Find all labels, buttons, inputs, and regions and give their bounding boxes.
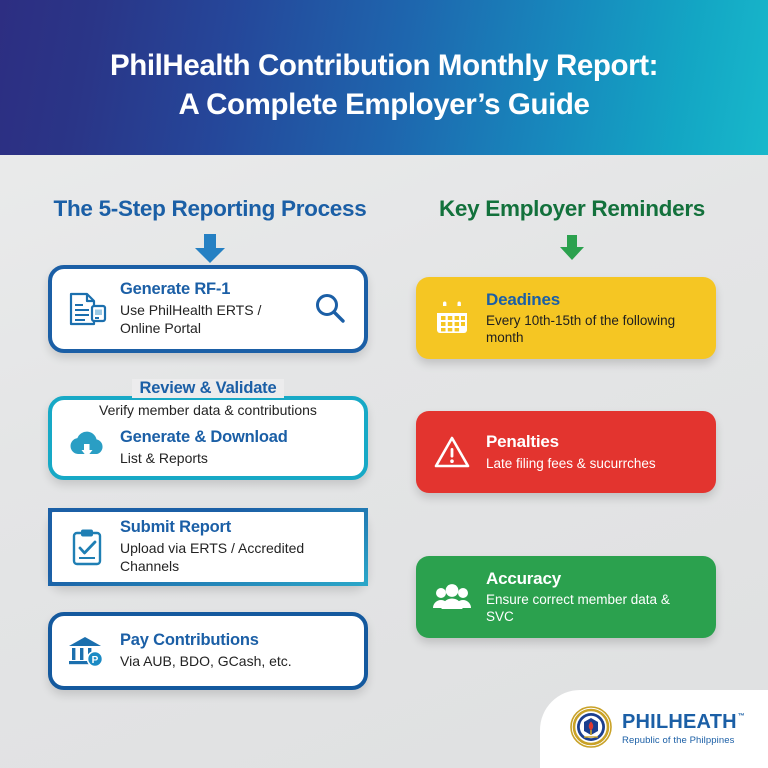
warning-triangle-icon (432, 435, 472, 469)
infographic-page: PhilHealth Contribution Monthly Report: … (0, 0, 768, 768)
step-card-text: Pay Contributions Via AUB, BDO, GCash, e… (120, 631, 350, 670)
arrow-down-icon (193, 234, 227, 264)
step-card-title: Generate RF-1 (120, 280, 298, 299)
right-arrow-wrap (412, 235, 732, 261)
step-card-submit-report[interactable]: Submit Report Upload via ERTS / Accredit… (48, 508, 368, 586)
calendar-icon (432, 301, 472, 335)
step-card-text: Generate & Download List & Reports (120, 428, 350, 467)
reminder-card-text: Penalties Late filing fees & sucurrches (486, 432, 700, 472)
step-card-pay-contributions[interactable]: P Pay Contributions Via AUB, BDO, GCash,… (48, 612, 368, 690)
brand-name: PHILHEATH (622, 712, 737, 732)
trademark-symbol: ™ (738, 713, 745, 720)
right-column-heading: Key Employer Reminders (412, 196, 732, 222)
arrow-down-icon (558, 235, 586, 261)
page-title-line2: A Complete Employer’s Guide (178, 86, 589, 125)
step-card-subtitle: Via AUB, BDO, GCash, etc. (120, 653, 350, 671)
svg-text:P: P (92, 655, 99, 666)
reminder-card-subtitle: Ensure correct member data & SVC (486, 591, 700, 626)
philhealth-wordmark: PHILHEATH ™ Republic of the Philppines (622, 712, 745, 746)
reminder-card-title: Accuracy (486, 569, 700, 589)
step-card-review-validate[interactable]: Generate & Download List & Reports (48, 396, 368, 480)
step-card-title: Submit Report (120, 518, 350, 537)
step-card-subtitle-2: List & Reports (120, 450, 350, 468)
step-card-title: Pay Contributions (120, 631, 350, 650)
reminder-card-deadlines[interactable]: Deadines Every 10th-15th of the followin… (416, 277, 716, 359)
step-card-text: Submit Report Upload via ERTS / Accredit… (120, 518, 350, 575)
reminder-card-penalties[interactable]: Penalties Late filing fees & sucurrches (416, 411, 716, 493)
reminder-card-subtitle: Late filing fees & sucurrches (486, 455, 700, 472)
step-card-subtitle: Use PhilHealth ERTS / Online Portal (120, 302, 298, 338)
reminder-card-title: Penalties (486, 432, 700, 452)
page-title-line1: PhilHealth Contribution Monthly Report: (110, 47, 658, 86)
left-column-header: The 5-Step Reporting Process (40, 196, 380, 274)
bank-peso-icon: P (66, 633, 108, 669)
people-group-icon (432, 582, 472, 612)
magnifier-icon[interactable] (310, 292, 350, 326)
left-column-heading: The 5-Step Reporting Process (40, 196, 380, 222)
step-card-title-2: Generate & Download (120, 428, 350, 447)
reminder-card-text: Accuracy Ensure correct member data & SV… (486, 569, 700, 626)
reminder-card-accuracy[interactable]: Accuracy Ensure correct member data & SV… (416, 556, 716, 638)
right-column-header: Key Employer Reminders (412, 196, 732, 273)
philhealth-seal-icon (570, 706, 612, 753)
step-card-text: Generate RF-1 Use PhilHealth ERTS / Onli… (120, 280, 298, 337)
cloud-download-icon (66, 428, 108, 460)
footer-logo: PHILHEATH ™ Republic of the Philppines (540, 690, 768, 768)
reminder-card-text: Deadines Every 10th-15th of the followin… (486, 290, 700, 347)
reminder-card-subtitle: Every 10th-15th of the following month (486, 312, 700, 347)
header-banner: PhilHealth Contribution Monthly Report: … (0, 0, 768, 155)
step-card-subtitle: Upload via ERTS / Accredited Channels (120, 540, 350, 576)
left-arrow-wrap (40, 234, 380, 264)
clipboard-check-icon (66, 528, 108, 566)
brand-tagline: Republic of the Philppines (622, 735, 745, 746)
step-card-generate-rf1[interactable]: Generate RF-1 Use PhilHealth ERTS / Onli… (48, 265, 368, 353)
reminder-card-title: Deadines (486, 290, 700, 310)
document-monitor-icon (66, 289, 108, 329)
